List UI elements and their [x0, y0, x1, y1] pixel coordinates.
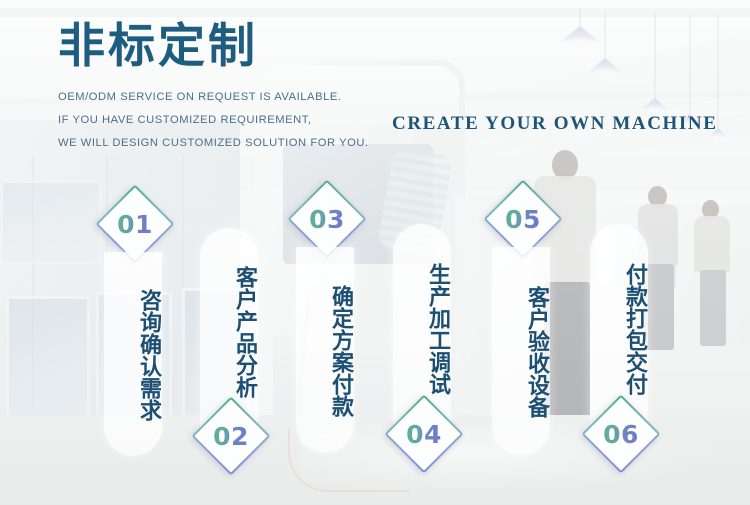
- step-label-01: 咨询确认需求: [104, 262, 162, 448]
- step-number-03: 03: [301, 193, 353, 245]
- step-number-04: 04: [398, 408, 450, 460]
- step-label-05: 客户验收设备: [492, 257, 550, 447]
- step-number-05: 05: [497, 193, 549, 245]
- step-number-01: 01: [109, 198, 161, 250]
- step-number-02: 02: [205, 410, 257, 462]
- banner-stage: 非标定制 OEM/ODM SERVICE ON REQUEST IS AVAIL…: [0, 0, 750, 505]
- step-number-06: 06: [595, 408, 647, 460]
- step-label-03: 确定方案付款: [296, 257, 354, 445]
- process-steps: 01 咨询确认需求 客户产品分析 02 03 确定方案付款 生产加工调试 04: [0, 0, 750, 505]
